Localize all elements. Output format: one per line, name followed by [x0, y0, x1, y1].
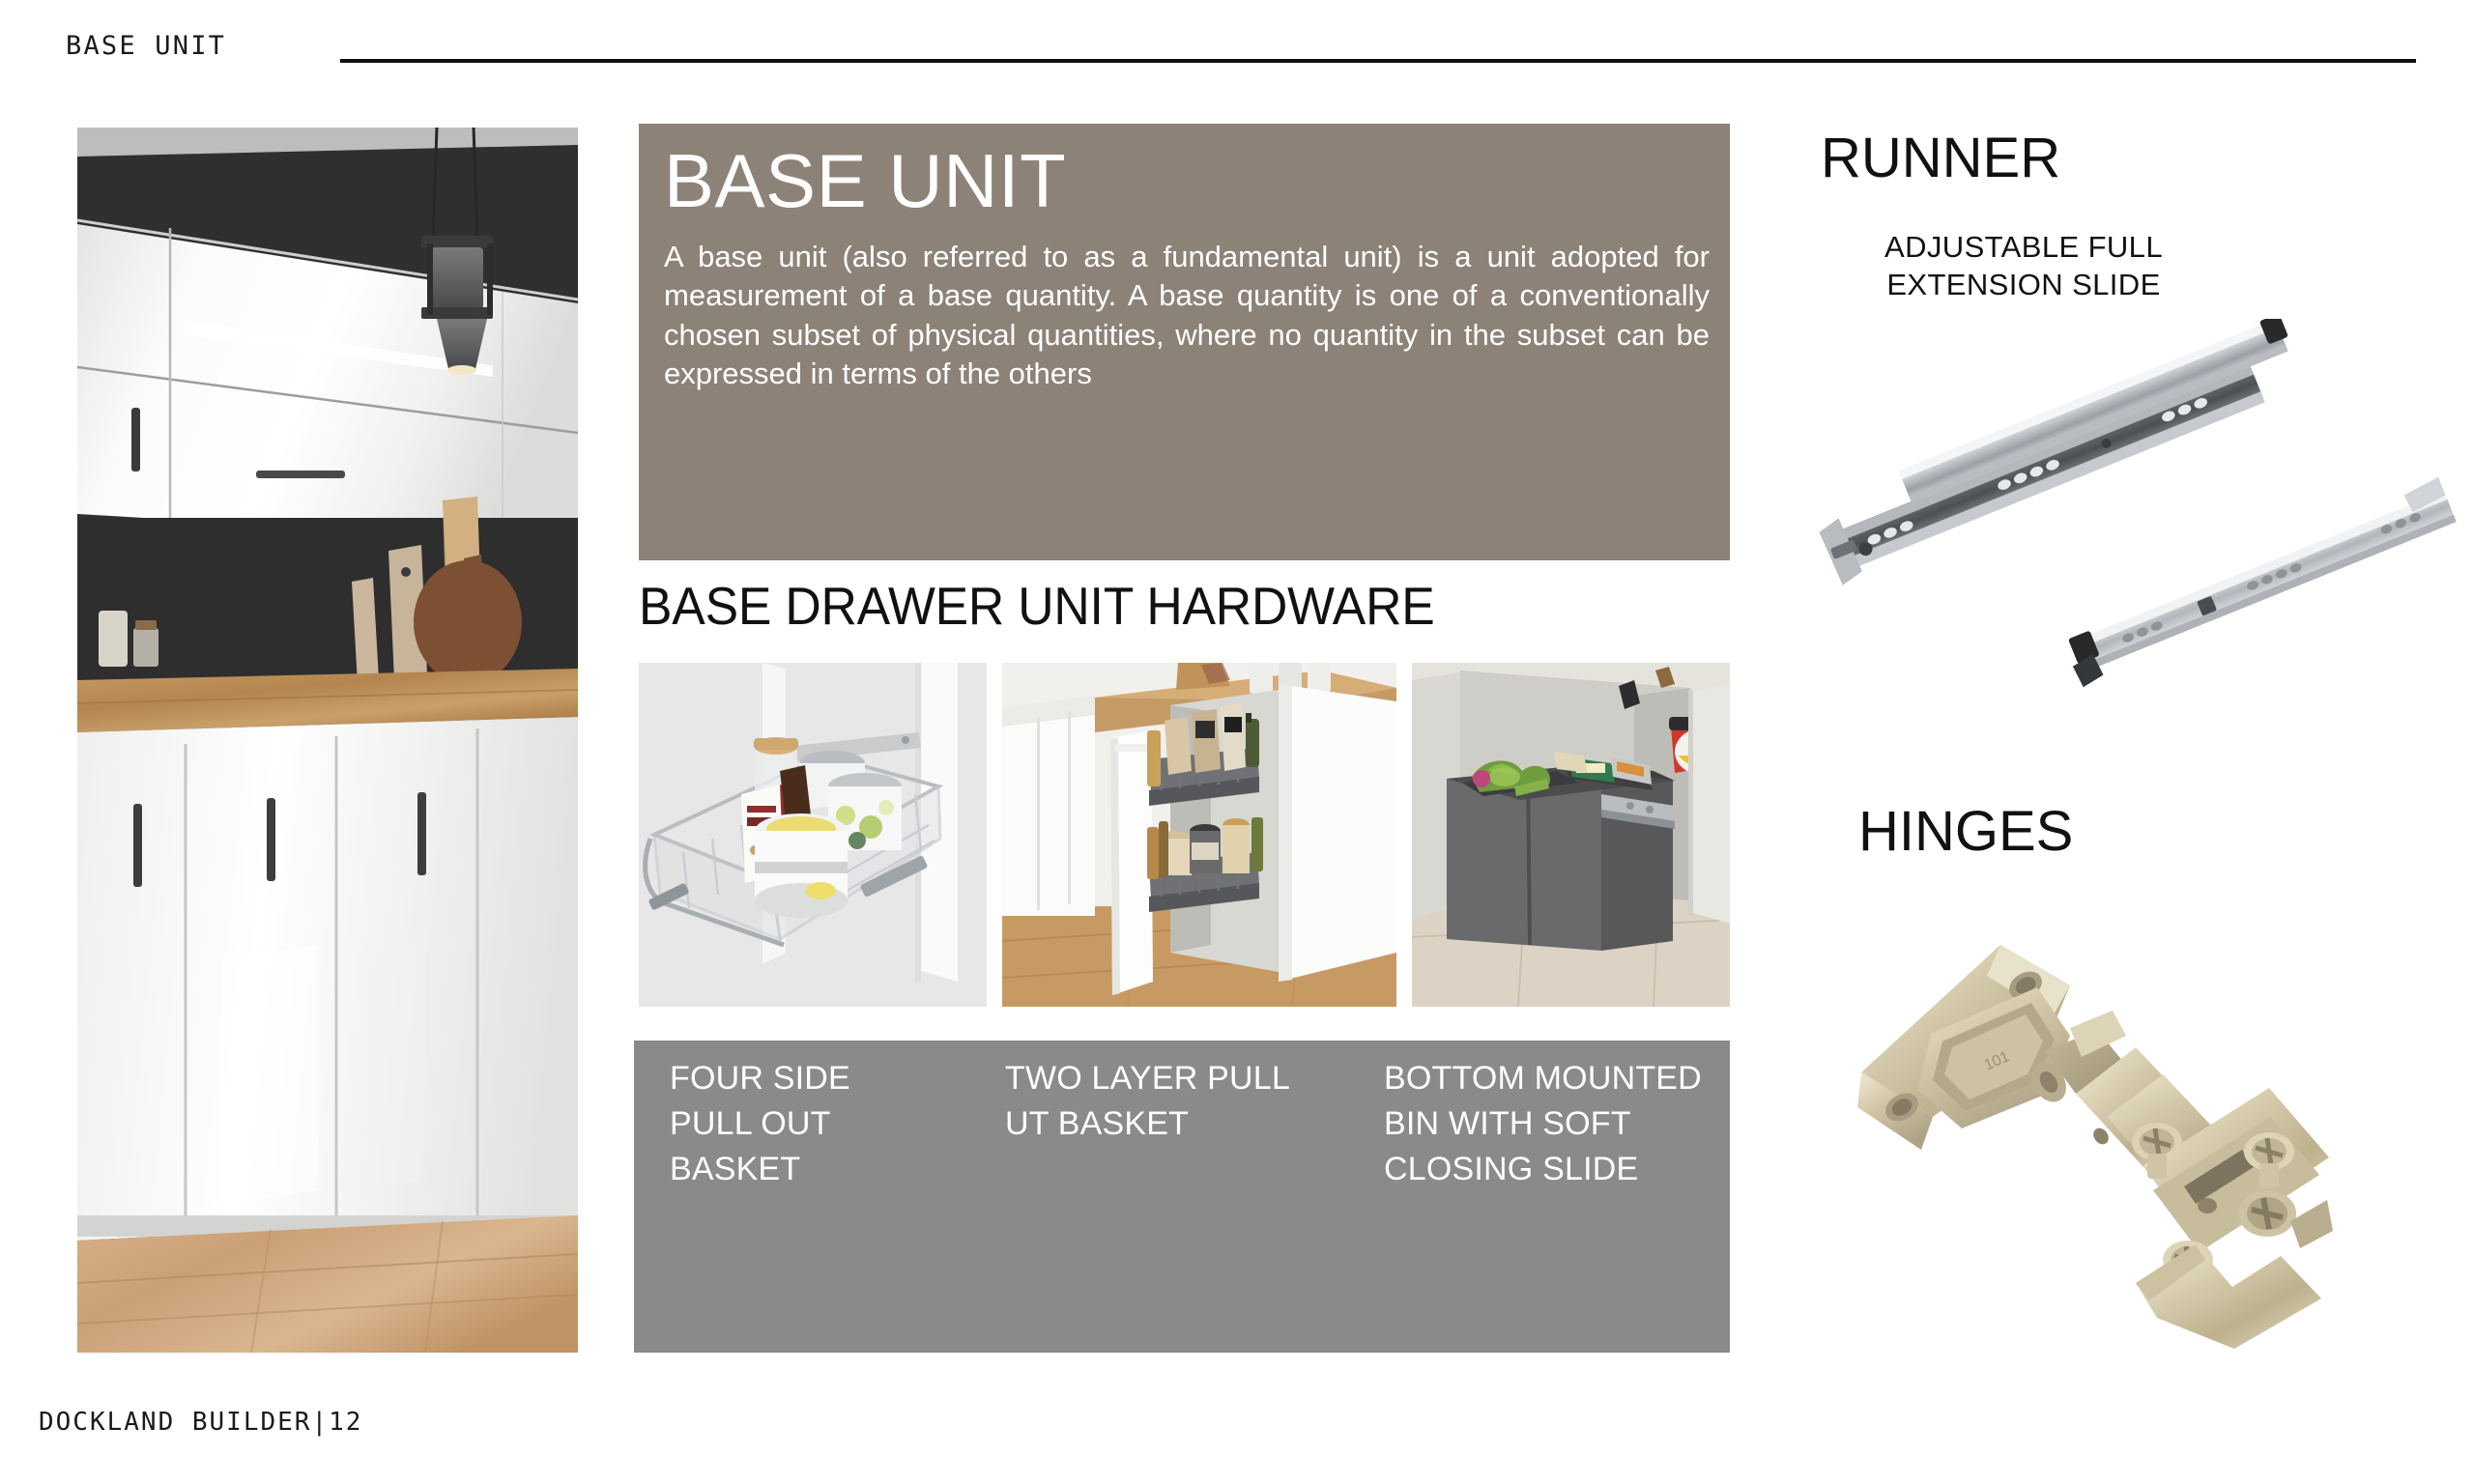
drawer-runner-slide-photo — [1798, 319, 2474, 725]
hardware-photo-row — [639, 663, 1730, 1007]
slide-root: BASE UNIT — [0, 0, 2474, 1484]
header-rule-divider — [340, 59, 2416, 63]
intro-body-text: A base unit (also referred to as a funda… — [664, 238, 1710, 393]
hardware-section-heading: BASE DRAWER UNIT HARDWARE — [639, 580, 1435, 633]
bottom-mounted-bin-photo — [1412, 663, 1730, 1007]
modern-kitchen-base-unit-photo — [77, 128, 578, 1353]
runner-subtitle: ADJUSTABLE FULL EXTENSION SLIDE — [1821, 229, 2227, 304]
hinges-section-title: HINGES — [1858, 804, 2073, 860]
hardware-caption-3: BOTTOM MOUNTED BIN WITH SOFT CLOSING SLI… — [1384, 1056, 1702, 1192]
runner-section-title: RUNNER — [1821, 130, 2060, 186]
two-layer-pull-out-basket-photo — [1002, 663, 1396, 1007]
hardware-caption-1: FOUR SIDE PULL OUT BASKET — [670, 1056, 850, 1192]
slide-header-label: BASE UNIT — [66, 31, 226, 61]
four-side-pull-out-basket-photo — [639, 663, 987, 1007]
hardware-caption-2: TWO LAYER PULL UT BASKET — [1005, 1056, 1290, 1147]
slide-footer: DOCKLAND BUILDER|12 — [39, 1408, 362, 1437]
soft-close-hinge-photo: 101 — [1817, 927, 2435, 1353]
intro-title: BASE UNIT — [664, 145, 1705, 216]
base-unit-intro-panel: BASE UNIT A base unit (also referred to … — [639, 124, 1730, 560]
